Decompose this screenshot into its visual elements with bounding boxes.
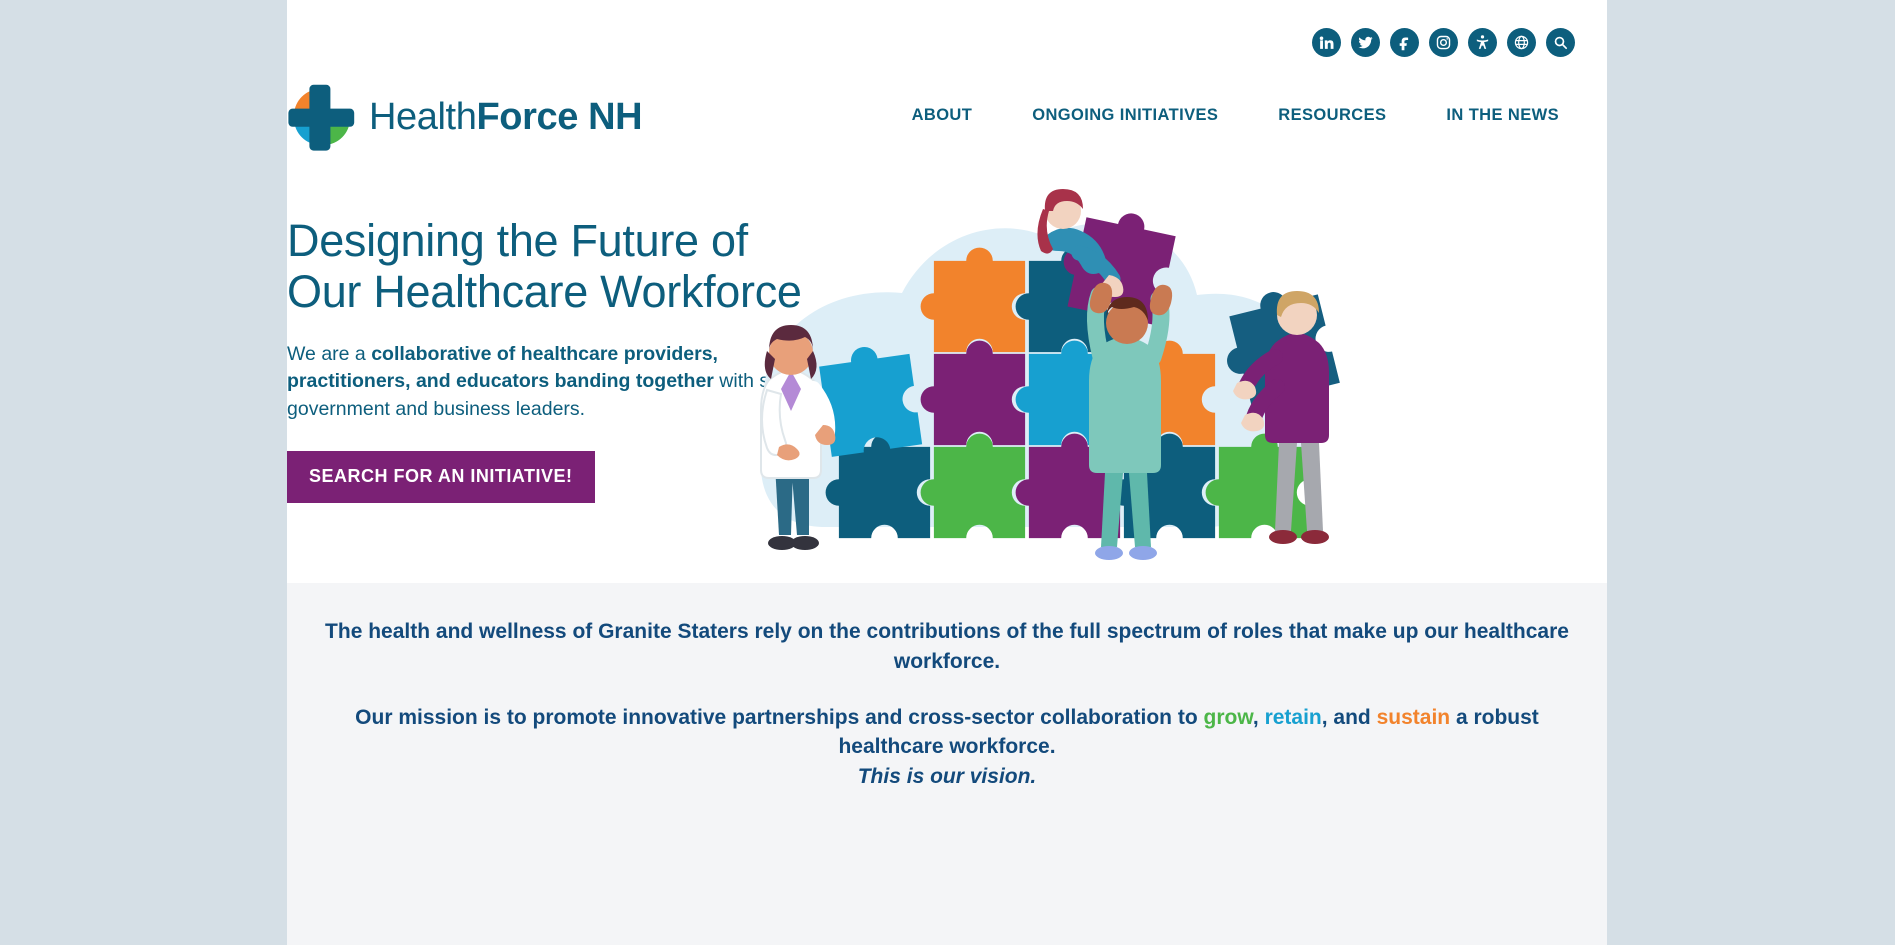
content-frame: HealthForce NH ABOUT ONGOING INITIATIVES… — [287, 0, 1607, 945]
logo-word-force-nh: Force NH — [476, 96, 642, 138]
mission-vision-line: This is our vision. — [319, 762, 1575, 792]
site-header: HealthForce NH ABOUT ONGOING INITIATIVES… — [287, 72, 1607, 172]
logo-wordmark: HealthForce NH — [369, 98, 642, 136]
nav-item-in-the-news[interactable]: IN THE NEWS — [1416, 98, 1589, 133]
twitter-icon[interactable] — [1351, 28, 1380, 57]
mission-statement: The health and wellness of Granite State… — [319, 617, 1575, 677]
search-icon[interactable] — [1546, 28, 1575, 57]
logo-word-health: Health — [369, 96, 476, 138]
puzzle-teamwork-illustration-icon — [727, 175, 1347, 595]
mission-word-retain: retain — [1265, 706, 1322, 729]
linkedin-icon[interactable] — [1312, 28, 1341, 57]
nav-item-resources[interactable]: RESOURCES — [1248, 98, 1416, 133]
mission-word-sustain: sustain — [1377, 706, 1451, 729]
accessibility-icon[interactable] — [1468, 28, 1497, 57]
mission-word-grow: grow — [1204, 706, 1253, 729]
main-nav: ABOUT ONGOING INITIATIVES RESOURCES IN T… — [882, 98, 1589, 133]
healthforce-cross-logo-icon — [287, 82, 357, 152]
hero-illustration — [727, 175, 1347, 595]
mission-vision-statement: Our mission is to promote innovative par… — [319, 703, 1575, 792]
instagram-icon[interactable] — [1429, 28, 1458, 57]
facebook-icon[interactable] — [1390, 28, 1419, 57]
mission-line-pre: Our mission is to promote innovative par… — [355, 706, 1203, 729]
nav-item-about[interactable]: ABOUT — [882, 98, 1003, 133]
hero-section: Designing the Future of Our Healthcare W… — [287, 215, 1607, 583]
globe-icon[interactable] — [1507, 28, 1536, 57]
social-bar — [1312, 28, 1575, 57]
page-root: HealthForce NH ABOUT ONGOING INITIATIVES… — [0, 0, 1895, 945]
mission-sep-1: , — [1253, 706, 1265, 729]
mission-sep-2: , and — [1322, 706, 1377, 729]
mission-band: The health and wellness of Granite State… — [287, 583, 1607, 945]
nav-item-ongoing-initiatives[interactable]: ONGOING INITIATIVES — [1002, 98, 1248, 133]
site-logo[interactable]: HealthForce NH — [287, 82, 642, 152]
search-for-an-initiative-button[interactable]: SEARCH FOR AN INITIATIVE! — [287, 451, 595, 503]
hero-sub-pre: We are a — [287, 343, 371, 365]
